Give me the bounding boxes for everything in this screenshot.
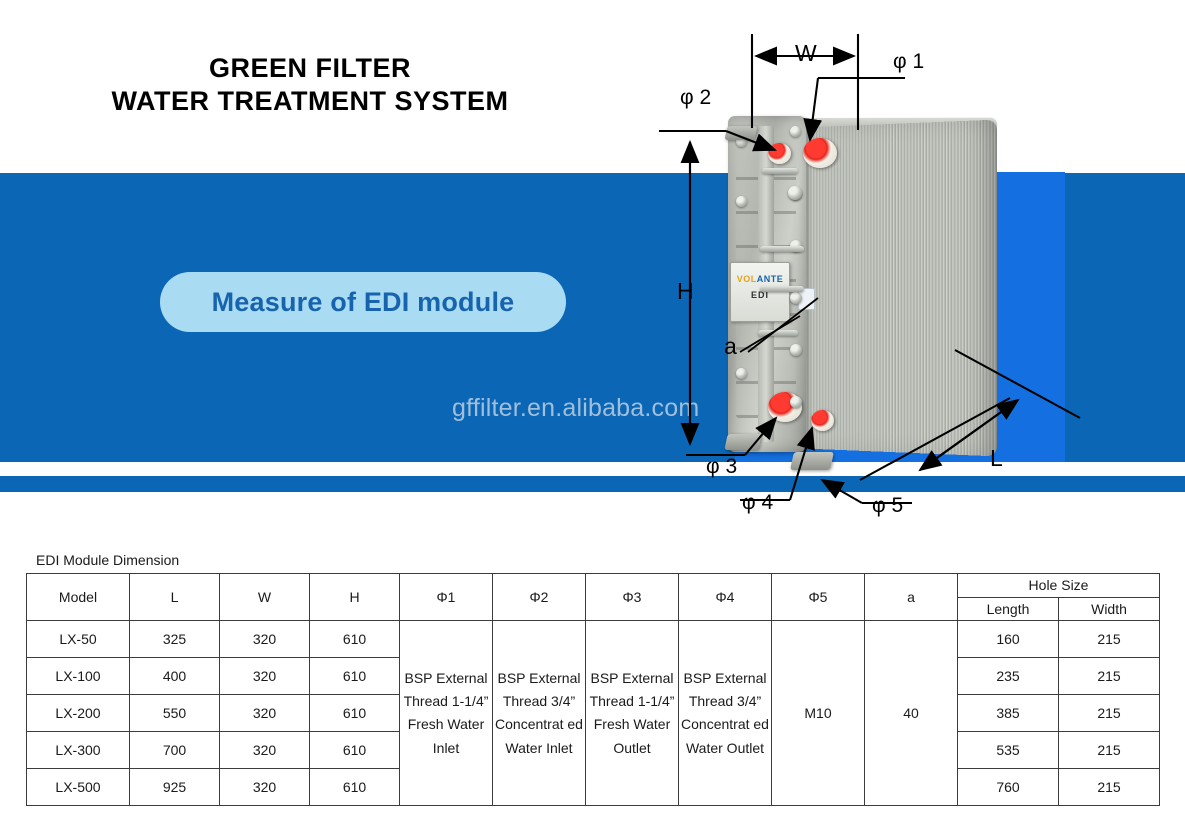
dimension-label-phi4: φ 4 <box>742 491 773 515</box>
header-phi5: Φ5 <box>772 574 865 621</box>
dimension-annotations <box>0 0 1185 540</box>
header-phi1: Φ1 <box>400 574 493 621</box>
cell-phi4: BSP External Thread 3/4” Concentrat ed W… <box>679 621 772 806</box>
dimension-label-h: H <box>677 278 694 305</box>
cell-l: 325 <box>130 621 220 658</box>
cell-h: 610 <box>310 769 400 806</box>
header-phi4: Φ4 <box>679 574 772 621</box>
dimension-label-phi5: φ 5 <box>872 494 903 518</box>
dimension-label-phi3: φ 3 <box>706 455 737 479</box>
dimension-table-section: EDI Module Dimension Model L W H Φ1 Φ2 Φ… <box>0 540 1185 827</box>
table-header-row: Model L W H Φ1 Φ2 Φ3 Φ4 Φ5 a Hole Size <box>27 574 1160 598</box>
cell-model: LX-500 <box>27 769 130 806</box>
dimension-label-a: a <box>724 333 737 360</box>
cell-w: 320 <box>220 769 310 806</box>
cell-hole-length: 235 <box>958 658 1059 695</box>
cell-hole-length: 760 <box>958 769 1059 806</box>
cell-model: LX-300 <box>27 732 130 769</box>
cell-hole-width: 215 <box>1059 769 1160 806</box>
header-model: Model <box>27 574 130 621</box>
cell-model: LX-200 <box>27 695 130 732</box>
cell-phi5: M10 <box>772 621 865 806</box>
header-hole-width: Width <box>1059 597 1160 621</box>
cell-h: 610 <box>310 658 400 695</box>
cell-h: 610 <box>310 732 400 769</box>
cell-w: 320 <box>220 621 310 658</box>
cell-l: 700 <box>130 732 220 769</box>
cell-h: 610 <box>310 621 400 658</box>
cell-model: LX-100 <box>27 658 130 695</box>
header-l: L <box>130 574 220 621</box>
header-phi2: Φ2 <box>493 574 586 621</box>
cell-l: 400 <box>130 658 220 695</box>
hero-banner: GREEN FILTER WATER TREATMENT SYSTEM Meas… <box>0 0 1185 540</box>
cell-l: 550 <box>130 695 220 732</box>
cell-hole-length: 160 <box>958 621 1059 658</box>
dimension-label-l: L <box>990 445 1003 472</box>
dimension-table: Model L W H Φ1 Φ2 Φ3 Φ4 Φ5 a Hole Size L… <box>26 573 1160 806</box>
dimension-label-phi1: φ 1 <box>893 50 924 74</box>
cell-h: 610 <box>310 695 400 732</box>
cell-hole-length: 535 <box>958 732 1059 769</box>
header-w: W <box>220 574 310 621</box>
cell-hole-length: 385 <box>958 695 1059 732</box>
header-phi3: Φ3 <box>586 574 679 621</box>
dimension-label-phi2: φ 2 <box>680 86 711 110</box>
cell-w: 320 <box>220 658 310 695</box>
cell-hole-width: 215 <box>1059 621 1160 658</box>
dimension-label-w: W <box>795 40 817 67</box>
cell-phi1: BSP External Thread 1-1/4” Fresh Water I… <box>400 621 493 806</box>
header-hole-length: Length <box>958 597 1059 621</box>
cell-model: LX-50 <box>27 621 130 658</box>
table-caption: EDI Module Dimension <box>36 552 179 568</box>
cell-phi2: BSP External Thread 3/4” Concentrat ed W… <box>493 621 586 806</box>
cell-l: 925 <box>130 769 220 806</box>
cell-phi3: BSP External Thread 1-1/4” Fresh Water O… <box>586 621 679 806</box>
cell-w: 320 <box>220 695 310 732</box>
cell-hole-width: 215 <box>1059 732 1160 769</box>
header-h: H <box>310 574 400 621</box>
cell-hole-width: 215 <box>1059 658 1160 695</box>
table-row: LX-50 325 320 610 BSP External Thread 1-… <box>27 621 1160 658</box>
cell-a: 40 <box>865 621 958 806</box>
header-hole-size: Hole Size <box>958 574 1160 598</box>
cell-w: 320 <box>220 732 310 769</box>
cell-hole-width: 215 <box>1059 695 1160 732</box>
header-a: a <box>865 574 958 621</box>
